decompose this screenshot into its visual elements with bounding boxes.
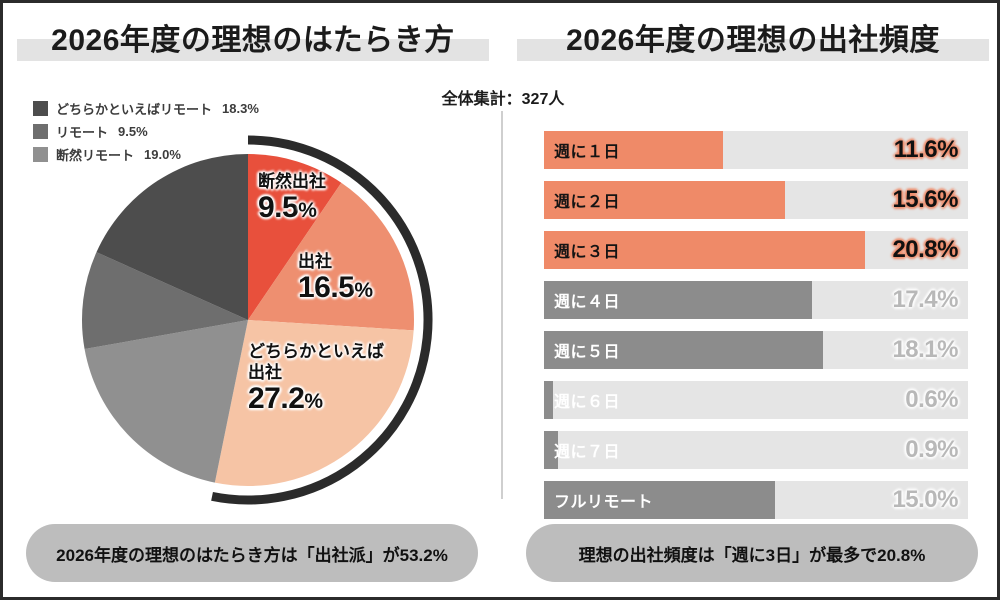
legend-value: 18.3% [222, 101, 259, 116]
bar-row: 週に４日17.4% [544, 281, 968, 319]
bar-value-label: 0.6% [905, 381, 958, 419]
pie-label-number: 27.2 [248, 382, 304, 415]
legend-swatch-icon [33, 101, 48, 116]
bar-category-label: 週に２日 [554, 181, 620, 219]
left-summary-caption: 2026年度の理想のはたらき方は「出社派」が53.2% [26, 524, 478, 582]
bar-row: 週に６日0.6% [544, 381, 968, 419]
bar-value-label: 15.0% [892, 481, 958, 519]
total-respondents-label: 全体集計：327人 [303, 85, 703, 109]
bar-row: 週に５日18.1% [544, 331, 968, 369]
bar-category-label: 週に７日 [554, 431, 620, 469]
pie-label-name: 出社 [298, 251, 373, 272]
pie-label-name-line2: 出社 [248, 362, 384, 383]
pie-label-strongly-office: 断然出社 9.5% [258, 171, 326, 227]
bar-fill [544, 381, 553, 419]
bar-category-label: フルリモート [554, 481, 653, 519]
legend-label: どちらかといえばリモート [56, 99, 212, 118]
percent-sign: % [304, 390, 322, 413]
bar-value-label: 0.9% [905, 431, 958, 469]
bar-value-label: 15.6% [892, 181, 958, 219]
pie-chart: 断然出社 9.5% 出社 16.5% どちらかといえば 出社 27.2% [58, 133, 438, 508]
bar-value-label: 17.4% [892, 281, 958, 319]
pie-label-value: 27.2% [248, 383, 384, 418]
bar-category-label: 週に１日 [554, 131, 620, 169]
panel-divider [501, 111, 503, 499]
bar-value-label: 11.6% [894, 131, 958, 169]
right-chart-title: 2026年度の理想の出社頻度 [517, 19, 989, 65]
frequency-bar-chart: 週に１日11.6%週に２日15.6%週に３日20.8%週に４日17.4%週に５日… [544, 131, 968, 531]
bar-category-label: 週に５日 [554, 331, 620, 369]
pie-label-number: 16.5 [298, 271, 354, 304]
pie-label-office-leaning: どちらかといえば 出社 27.2% [248, 341, 384, 418]
bar-value-label: 20.8% [892, 231, 958, 269]
bar-value-label: 18.1% [892, 331, 958, 369]
legend-item-remote-leaning: どちらかといえばリモート 18.3% [33, 98, 259, 118]
bar-row: 週に２日15.6% [544, 181, 968, 219]
right-title-text: 2026年度の理想の出社頻度 [517, 19, 989, 63]
bar-category-label: 週に３日 [554, 231, 620, 269]
pie-label-name: 断然出社 [258, 171, 326, 192]
bar-row: 週に１日11.6% [544, 131, 968, 169]
bar-row: 週に７日0.9% [544, 431, 968, 469]
pie-label-value: 9.5% [258, 192, 326, 227]
right-summary-caption: 理想の出社頻度は「週に3日」が最多で20.8% [526, 524, 978, 582]
bar-category-label: 週に６日 [554, 381, 620, 419]
pie-label-value: 16.5% [298, 272, 373, 307]
infographic-canvas: 2026年度の理想のはたらき方 2026年度の理想の出社頻度 全体集計：327人… [0, 0, 1000, 600]
pie-label-number: 9.5 [258, 191, 298, 224]
bar-row: フルリモート15.0% [544, 481, 968, 519]
pie-label-office: 出社 16.5% [298, 251, 373, 307]
pie-label-name-line1: どちらかといえば [248, 341, 384, 362]
bar-row: 週に３日20.8% [544, 231, 968, 269]
left-title-text: 2026年度の理想のはたらき方 [17, 19, 489, 63]
pie-slice-labels: 断然出社 9.5% 出社 16.5% どちらかといえば 出社 27.2% [58, 133, 438, 508]
percent-sign: % [354, 279, 372, 302]
percent-sign: % [298, 199, 316, 222]
left-chart-title: 2026年度の理想のはたらき方 [17, 19, 489, 65]
bar-category-label: 週に４日 [554, 281, 620, 319]
legend-swatch-icon [33, 147, 48, 162]
legend-swatch-icon [33, 124, 48, 139]
